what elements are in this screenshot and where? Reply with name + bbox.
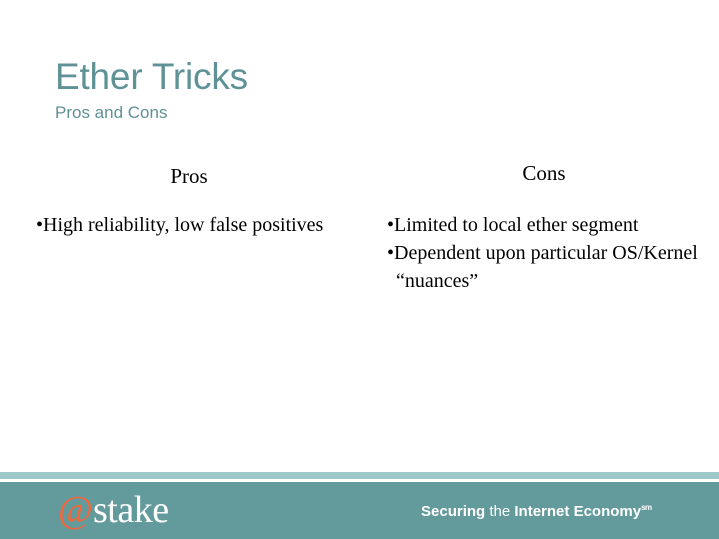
bullet-icon: •: [36, 214, 43, 236]
list-item: •High reliability, low false positives: [45, 211, 354, 239]
tagline-word-2: the: [489, 503, 510, 520]
bullet-icon: •: [387, 242, 394, 264]
tagline-word-4: Economy: [574, 503, 642, 520]
title-block: Ether Tricks Pros and Cons: [55, 56, 675, 124]
service-mark-icon: sm: [641, 503, 652, 512]
page-subtitle: Pros and Cons: [55, 98, 675, 124]
logo-wordmark: stake: [93, 489, 169, 531]
column-cons-list: •Limited to local ether segment •Depende…: [374, 211, 714, 295]
column-cons: Cons •Limited to local ether segment •De…: [374, 155, 714, 295]
list-item: •Dependent upon particular OS/Kernel “nu…: [396, 239, 714, 295]
footer-tagline: Securing the Internet Economysm: [421, 498, 652, 521]
list-item-text: Dependent upon particular OS/Kernel “nua…: [394, 242, 698, 292]
at-symbol-icon: @: [58, 489, 93, 531]
column-pros: Pros •High reliability, low false positi…: [24, 155, 354, 239]
footer-accent-stripe: [0, 472, 719, 479]
content-columns: Pros •High reliability, low false positi…: [0, 155, 719, 455]
tagline-word-1: Securing: [421, 503, 485, 520]
list-item-text: High reliability, low false positives: [43, 214, 323, 236]
atstake-logo: @stake: [58, 489, 169, 531]
slide-canvas: Ether Tricks Pros and Cons Pros •High re…: [0, 0, 719, 539]
list-item-text: Limited to local ether segment: [394, 214, 638, 236]
list-item: •Limited to local ether segment: [396, 211, 714, 239]
column-pros-heading: Pros: [24, 155, 354, 189]
bullet-icon: •: [387, 214, 394, 236]
column-cons-heading: Cons: [374, 155, 714, 186]
column-pros-list: •High reliability, low false positives: [24, 211, 354, 239]
page-title: Ether Tricks: [55, 56, 675, 98]
tagline-word-3: Internet: [514, 503, 569, 520]
